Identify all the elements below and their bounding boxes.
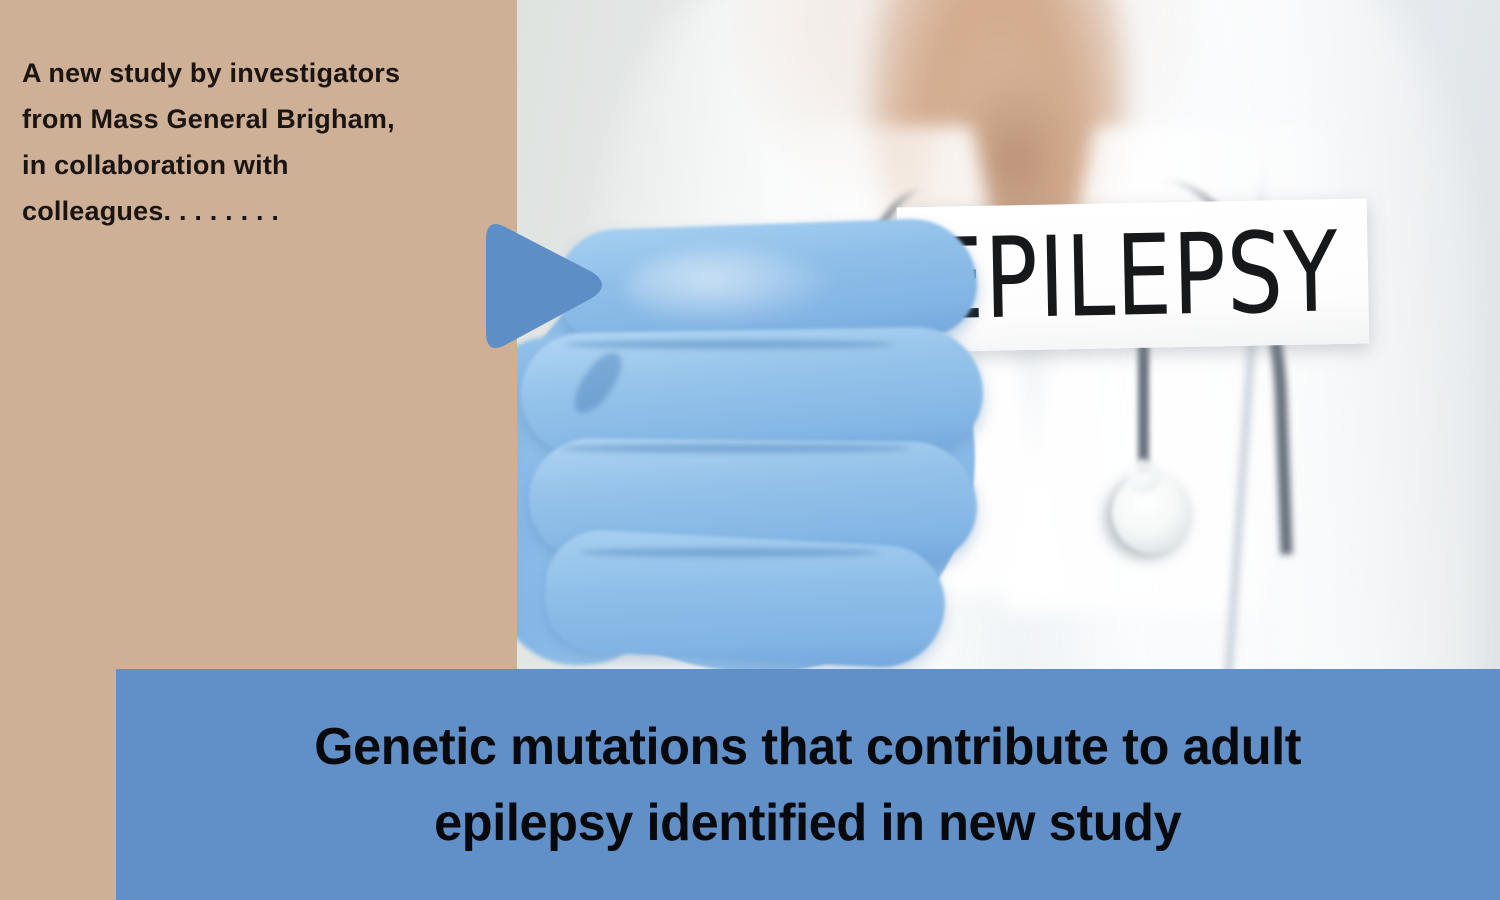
headline-line-1: Genetic mutations that contribute to adu… — [315, 709, 1302, 785]
headline: Genetic mutations that contribute to adu… — [315, 709, 1302, 861]
glove-crease — [565, 340, 895, 349]
headline-banner: Genetic mutations that contribute to adu… — [116, 669, 1500, 900]
blurb-line-4: colleagues. . . . . . . . — [22, 188, 492, 234]
blurb-line-3: in collaboration with — [22, 142, 492, 188]
headline-line-2: epilepsy identified in new study — [315, 785, 1302, 861]
glove-crease — [561, 444, 911, 453]
blurb-line-1: A new study by investigators — [22, 50, 492, 96]
glove-highlight — [625, 248, 835, 326]
glove-crease — [579, 548, 879, 557]
blurb-text: A new study by investigators from Mass G… — [22, 50, 492, 234]
play-triangle-icon — [486, 224, 602, 348]
news-card: EPILEPSY A new study by investigators fr… — [0, 0, 1500, 900]
blurb-line-2: from Mass General Brigham, — [22, 96, 492, 142]
